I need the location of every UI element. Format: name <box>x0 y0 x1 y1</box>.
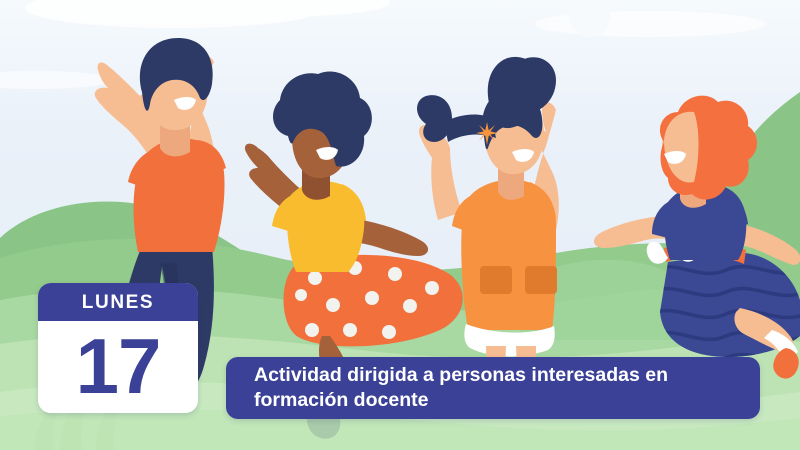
caption-text: Actividad dirigida a personas interesada… <box>226 363 724 413</box>
girl3-pocket-right <box>525 266 557 294</box>
calendar-day-number: 17 <box>76 335 161 399</box>
calendar-body: 17 <box>38 321 198 413</box>
calendar-card: LUNES 17 <box>38 283 198 413</box>
calendar-day-name: LUNES <box>82 293 154 312</box>
calendar-header: LUNES <box>38 283 198 321</box>
girl3-pocket-left <box>480 266 512 294</box>
caption-banner: Actividad dirigida a personas interesada… <box>226 357 760 419</box>
illustration-banner-card: LUNES 17 Actividad dirigida a personas i… <box>0 0 800 450</box>
